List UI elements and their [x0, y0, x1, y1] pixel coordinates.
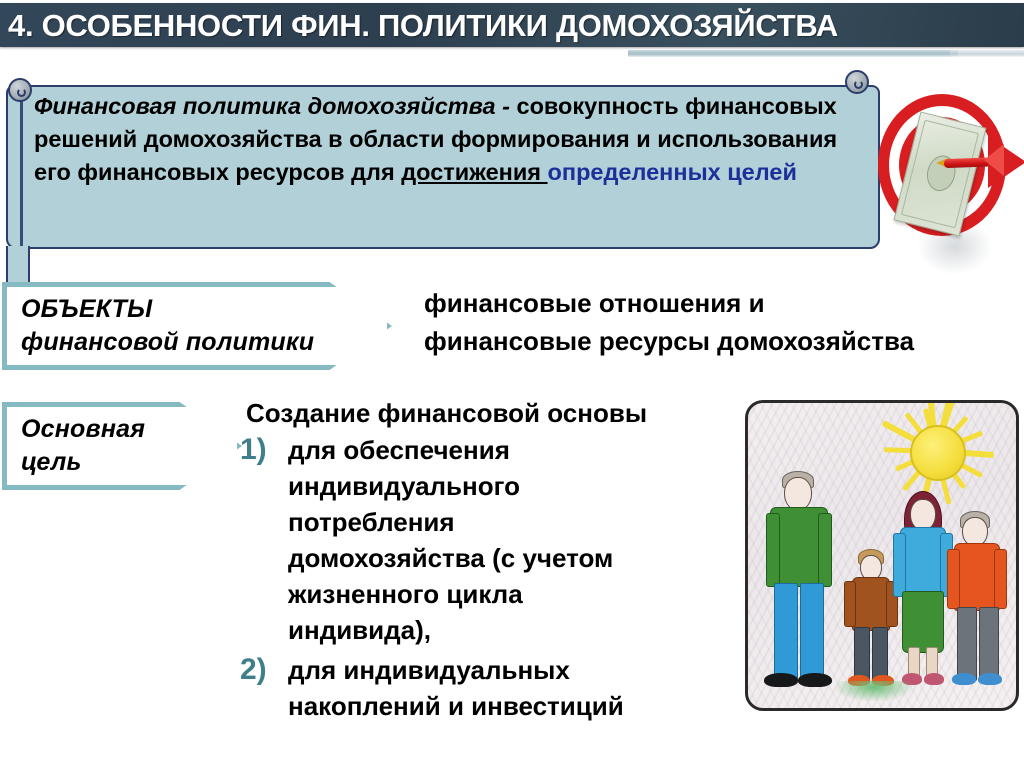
grass-patch: [836, 681, 912, 701]
list-item-text: для обеспечения индивидуального потребле…: [288, 432, 613, 648]
childs-drawing-of-family: [745, 400, 1019, 711]
father-shoe-left: [764, 673, 798, 687]
slide-title-banner: 4. ОСОБЕННОСТИ ФИН. ПОЛИТИКИ ДОМОХОЗЯЙСТ…: [0, 3, 1024, 47]
list-item-text: для индивидуальных накоплений и инвестиц…: [288, 652, 624, 724]
slide-root: 4. ОСОБЕННОСТИ ФИН. ПОЛИТИКИ ДОМОХОЗЯЙСТ…: [0, 0, 1024, 767]
main-goal-label: Основная цель: [7, 413, 237, 479]
scroll-curl-left-icon: [8, 78, 32, 102]
teen-shoe-right: [978, 673, 1002, 685]
title-decoration-line: [628, 50, 958, 57]
mother-skirt: [902, 591, 944, 653]
father-arm-right: [818, 513, 832, 587]
objects-chevron-banner: ОБЪЕКТЫ финансовой политики: [2, 282, 392, 370]
scroll-curl-right-inner: [854, 80, 863, 89]
title-decoration-line-2: [950, 50, 1024, 57]
main-goal-chevron-banner: Основная цель: [2, 402, 242, 490]
list-item: 1) для обеспечения индивидуального потре…: [240, 432, 710, 648]
main-goal-heading: Создание финансовой основы: [246, 396, 647, 430]
scroll-curl-left-inner: [17, 88, 26, 97]
child-torso: [852, 577, 890, 631]
teen-leg-left: [957, 607, 977, 681]
definition-tail-underlined: достижения: [401, 159, 547, 185]
list-item: 2) для индивидуальных накоплений и инвес…: [240, 652, 710, 724]
target-with-dollar-and-dart-icon: [878, 78, 1024, 278]
definition-tail-plain: для: [351, 159, 401, 185]
father-leg-right: [800, 583, 824, 681]
sun-icon: [910, 425, 966, 481]
page-title: 4. ОСОБЕННОСТИ ФИН. ПОЛИТИКИ ДОМОХОЗЯЙСТ…: [0, 10, 838, 41]
teen-arm-left: [947, 549, 960, 609]
scroll-spine: [20, 85, 23, 257]
teen-arm-right: [994, 549, 1007, 609]
definition-tail-highlight: определенных целей: [548, 159, 797, 185]
child-arm-left: [844, 581, 856, 627]
objects-label: ОБЪЕКТЫ финансовой политики: [7, 293, 387, 359]
definition-lead-term: Финансовая политика домохозяйства -: [34, 93, 517, 119]
father-arm-left: [766, 513, 780, 587]
definition-text: Финансовая политика домохозяйства - сово…: [34, 90, 864, 189]
father-leg-left: [774, 583, 798, 681]
teen-shoe-left: [952, 673, 976, 685]
teen-leg-right: [979, 607, 999, 681]
scroll-tail: [6, 246, 30, 288]
list-item-number: 2): [240, 652, 288, 688]
father-shoe-right: [798, 673, 832, 687]
dart-fletching-inner-icon: [984, 144, 1004, 176]
objects-value-text: финансовые отношения и финансовые ресурс…: [424, 284, 1024, 360]
mother-shoe-right: [924, 673, 944, 685]
main-goal-list: 1) для обеспечения индивидуального потре…: [240, 432, 710, 728]
mother-arm-left: [893, 533, 906, 597]
list-item-number: 1): [240, 432, 288, 468]
father-head: [784, 477, 812, 511]
